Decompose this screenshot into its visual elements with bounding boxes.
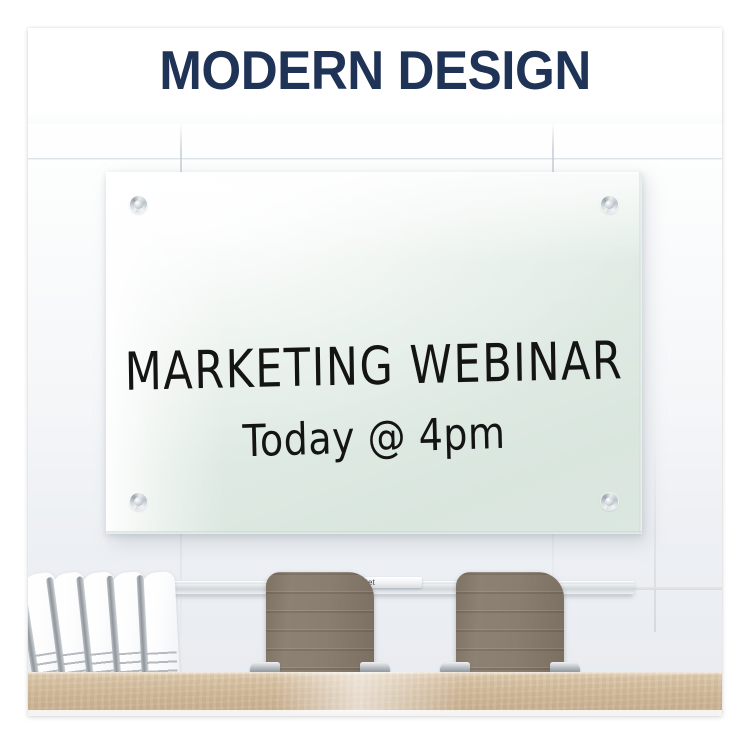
handwriting-line-1: MARKETING WEBINAR xyxy=(106,330,643,404)
executive-chair xyxy=(448,568,572,680)
standoff-mount-icon xyxy=(601,493,618,510)
handwriting-group: MARKETING WEBINAR Today @ 4pm xyxy=(106,172,642,534)
table-edge xyxy=(28,672,722,675)
furniture-group xyxy=(28,566,722,716)
glass-dry-erase-board: MARKETING WEBINAR Today @ 4pm xyxy=(106,172,642,534)
executive-chair xyxy=(258,568,382,680)
chair-ribs xyxy=(456,572,564,680)
table-front-face xyxy=(28,710,722,716)
chair-ribs xyxy=(266,572,374,680)
image-card: MODERN DESIGN MARKET xyxy=(28,28,722,716)
board-bottom-edge xyxy=(106,531,642,534)
standoff-mount-icon xyxy=(130,493,147,510)
handwriting-line-2: Today @ 4pm xyxy=(105,403,642,471)
glass-sheen-top xyxy=(106,172,642,262)
wall-reveal-line xyxy=(28,158,722,160)
conference-table xyxy=(28,672,722,716)
chair-back xyxy=(456,572,564,680)
product-marketing-image: MODERN DESIGN MARKET xyxy=(0,0,750,750)
wall-top-strip xyxy=(28,112,722,124)
glass-sheen xyxy=(106,172,226,534)
standoff-mount-icon xyxy=(130,196,147,213)
standoff-mount-icon xyxy=(601,196,618,213)
scene-photo: MARKETING WEBINAR Today @ 4pm Quartet xyxy=(28,112,722,716)
page-title: MODERN DESIGN xyxy=(159,43,591,98)
board-right-edge xyxy=(639,172,642,534)
headline-banner: MODERN DESIGN xyxy=(28,28,722,112)
chair-back xyxy=(266,572,374,680)
